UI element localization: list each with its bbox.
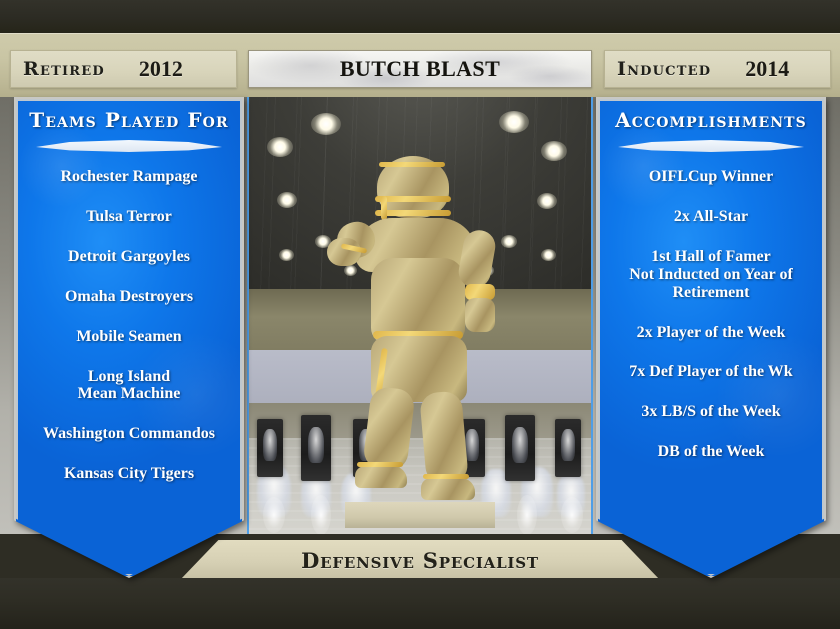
accomplishment-entry: 2x Player of the Week [602, 324, 820, 342]
teams-list: Rochester RampageTulsa TerrorDetroit Gar… [16, 168, 242, 483]
statue-left-leg [362, 386, 416, 473]
team-entry: Detroit Gargoyles [20, 248, 238, 266]
team-entry: Omaha Destroyers [20, 288, 238, 306]
facemask-bar [381, 196, 387, 220]
statue-plinth [345, 502, 495, 528]
retired-box: Retired 2012 [10, 50, 237, 88]
accomplishment-entry: DB of the Week [602, 443, 820, 461]
inducted-label: Inducted [617, 58, 711, 80]
diamond-divider-icon [36, 140, 222, 154]
ceiling-lamp-icon [537, 193, 557, 209]
player-statue-photo [247, 97, 593, 534]
team-entry: Tulsa Terror [20, 208, 238, 226]
shoe-stripe [423, 474, 469, 479]
bottom-dark-band [0, 578, 840, 629]
retired-year: 2012 [139, 56, 183, 82]
accomplishment-entry: 7x Def Player of the Wk [602, 363, 820, 381]
ceiling-lamp-icon [277, 192, 297, 208]
left-banner-title: Teams Played For [16, 108, 242, 132]
statue-left-hand [327, 238, 361, 266]
top-dark-band [0, 0, 840, 33]
accomplishments-list: OIFLCup Winner2x All-Star1st Hall of Fam… [598, 168, 824, 461]
retired-label: Retired [23, 58, 105, 80]
floor-reflection [263, 497, 285, 533]
hall-of-fame-plaque: Defensive Specialist Retired 2012 BUTCH … [0, 0, 840, 629]
ceiling-lamp-icon [541, 141, 567, 161]
ceiling-lamp-icon [267, 137, 293, 157]
position-caption-text: Defensive Specialist [301, 548, 539, 573]
accomplishment-entry: 3x LB/S of the Week [602, 403, 820, 421]
shoe-stripe [357, 462, 403, 467]
ceiling-lamp-icon [541, 249, 556, 261]
team-entry: Kansas City Tigers [20, 465, 238, 483]
bronze-statue [315, 126, 525, 526]
statue-right-shoe [421, 478, 475, 500]
teams-played-for-banner: Teams Played For Rochester RampageTulsa … [14, 97, 244, 578]
floor-reflection [561, 497, 583, 533]
accomplishment-entry: OIFLCup Winner [602, 168, 820, 186]
statue-left-shoe [355, 466, 407, 488]
diamond-divider-icon [618, 140, 804, 154]
ceiling-lamp-icon [279, 249, 294, 261]
accomplishment-entry: 1st Hall of Famer Not Inducted on Year o… [602, 248, 820, 302]
accomplishments-banner: Accomplishments OIFLCup Winner2x All-Sta… [596, 97, 826, 578]
player-name: BUTCH BLAST [340, 56, 500, 82]
team-entry: Mobile Seamen [20, 328, 238, 346]
display-case [555, 419, 581, 477]
team-entry: Rochester Rampage [20, 168, 238, 186]
inducted-year: 2014 [745, 56, 789, 82]
team-entry: Washington Commandos [20, 425, 238, 443]
right-banner-title: Accomplishments [598, 108, 824, 132]
helmet-stripe [379, 162, 445, 167]
display-case [257, 419, 283, 477]
accomplishment-entry: 2x All-Star [602, 208, 820, 226]
position-caption-bar: Defensive Specialist [180, 540, 660, 580]
inducted-box: Inducted 2014 [604, 50, 831, 88]
team-entry: Long Island Mean Machine [20, 368, 238, 404]
player-name-plate: BUTCH BLAST [248, 50, 592, 88]
banner-shape-right: Accomplishments OIFLCup Winner2x All-Sta… [596, 97, 826, 578]
statue-right-leg [419, 390, 469, 485]
statue-right-hand [465, 298, 495, 332]
banner-shape-left: Teams Played For Rochester RampageTulsa … [14, 97, 244, 578]
